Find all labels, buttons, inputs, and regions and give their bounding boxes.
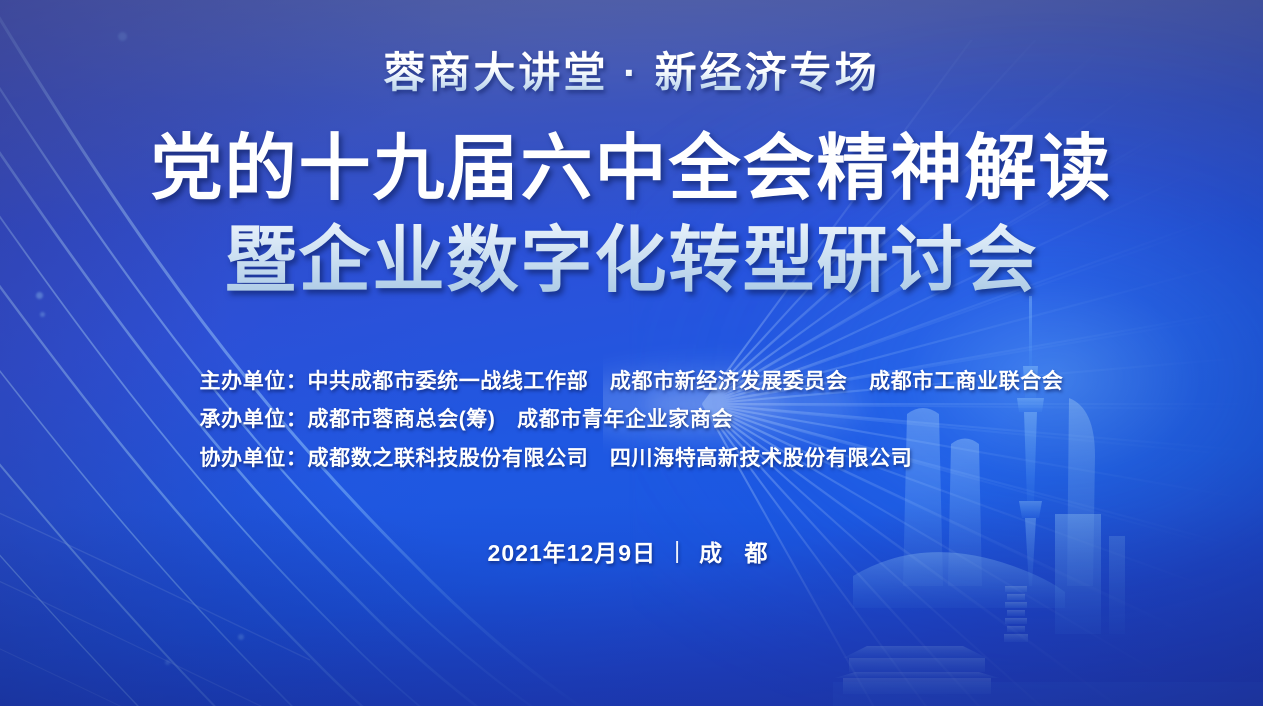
organizer-coorganizer-line: 协办单位：成都数之联科技股份有限公司 四川海特高新技术股份有限公司 — [200, 440, 1064, 478]
event-series-subtitle: 蓉商大讲堂 · 新经济专场 — [383, 48, 879, 98]
title-line-2: 暨企业数字化转型研讨会 — [150, 216, 1112, 307]
event-city: 成 都 — [699, 534, 775, 568]
organizer-list: 主办单位：中共成都市委统一战线工作部 成都市新经济发展委员会 成都市工商业联合会… — [200, 363, 1064, 478]
title-line-1: 党的十九届六中全会精神解读 — [150, 124, 1112, 215]
footer-separator: | — [674, 537, 681, 564]
organizer-host-line: 主办单位：中共成都市委统一战线工作部 成都市新经济发展委员会 成都市工商业联合会 — [200, 363, 1064, 401]
organizer-undertaker-line: 承办单位：成都市蓉商总会(筹) 成都市青年企业家商会 — [200, 401, 1064, 439]
event-footer: 2021年12月9日 | 成 都 — [488, 534, 776, 568]
page-title: 党的十九届六中全会精神解读 暨企业数字化转型研讨会 — [150, 124, 1112, 307]
poster-content: 蓉商大讲堂 · 新经济专场 党的十九届六中全会精神解读 暨企业数字化转型研讨会 … — [0, 0, 1263, 706]
event-poster: 蓉商大讲堂 · 新经济专场 党的十九届六中全会精神解读 暨企业数字化转型研讨会 … — [0, 0, 1263, 706]
event-date: 2021年12月9日 — [488, 534, 657, 568]
